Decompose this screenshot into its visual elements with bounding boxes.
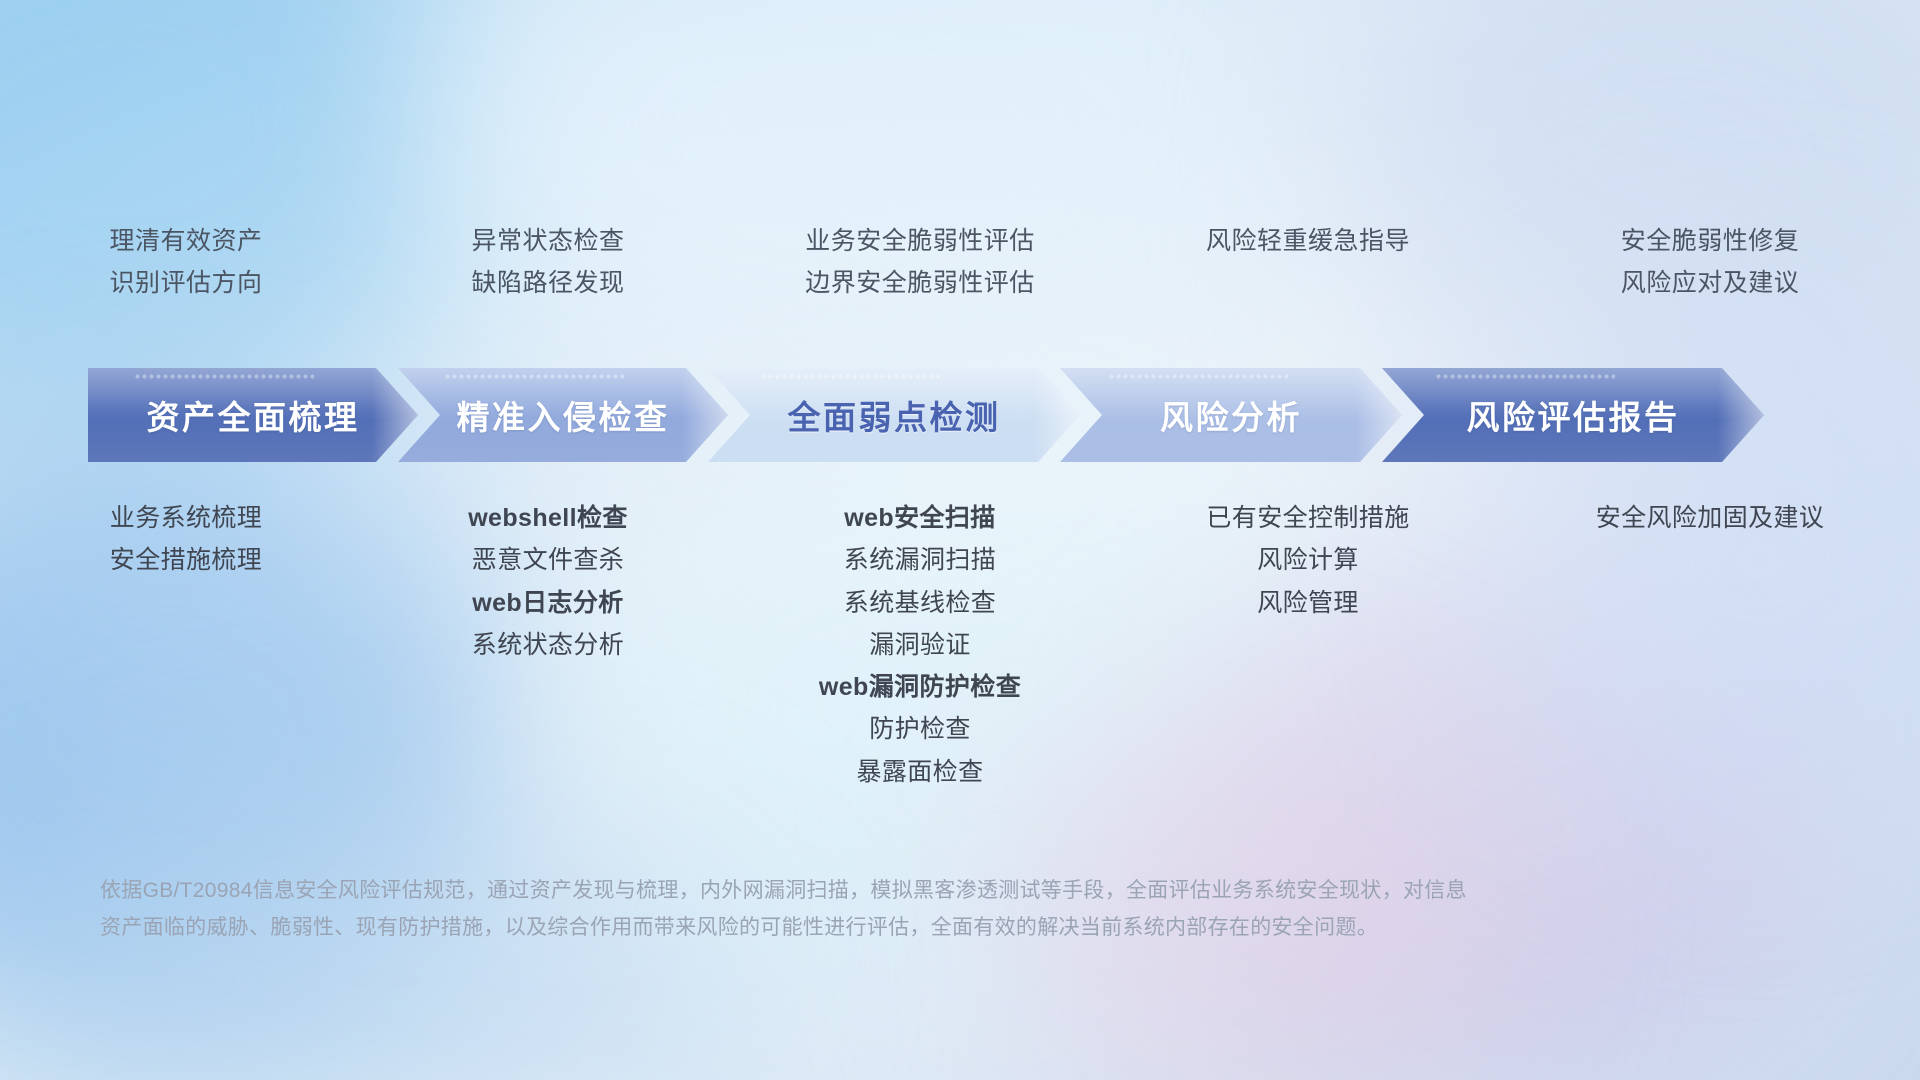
stage-title: 全面弱点检测 — [788, 391, 1001, 439]
stage-bottom-lists: 业务系统梳理安全措施梳理webshell检查恶意文件查杀web日志分析系统状态分… — [0, 505, 1920, 785]
footer-description: 依据GB/T20984信息安全风险评估规范，通过资产发现与梳理，内外网漏洞扫描，… — [100, 872, 1700, 947]
top-caption: 边界安全脆弱性评估 — [805, 270, 1035, 296]
process-stage-risk-analysis[interactable]: 风险分析 — [1060, 368, 1402, 462]
top-captions-weakness-detection: 业务安全脆弱性评估边界安全脆弱性评估 — [724, 228, 1116, 297]
list-item: 漏洞验证 — [869, 632, 971, 658]
process-arrow-banner: 资产全面梳理精准入侵检查全面弱点检测风险分析风险评估报告 — [88, 368, 1844, 462]
chevron-arrow-edge-icon — [1718, 368, 1764, 462]
list-item: 暴露面检查 — [856, 759, 983, 785]
process-stage-asset-inventory[interactable]: 资产全面梳理 — [88, 368, 418, 462]
top-captions-intrusion-check: 异常状态检查缺陷路径发现 — [372, 228, 724, 297]
bottom-list-weakness-detection: web安全扫描系统漏洞扫描系统基线检查漏洞验证web漏洞防护检查防护检查暴露面检… — [724, 505, 1116, 785]
bottom-list-risk-analysis: 已有安全控制措施风险计算风险管理 — [1116, 505, 1500, 616]
top-caption: 异常状态检查 — [471, 228, 624, 254]
list-item: web漏洞防护检查 — [819, 674, 1021, 700]
list-item: 系统漏洞扫描 — [844, 547, 996, 573]
chevron-dot-texture — [444, 373, 624, 379]
top-caption: 风险轻重缓急指导 — [1206, 228, 1410, 254]
top-caption: 风险应对及建议 — [1621, 270, 1800, 296]
list-item: webshell检查 — [468, 505, 628, 531]
top-caption: 识别评估方向 — [109, 270, 262, 296]
top-caption: 理清有效资产 — [109, 228, 262, 254]
list-item: 恶意文件查杀 — [472, 547, 624, 573]
top-caption: 安全脆弱性修复 — [1621, 228, 1800, 254]
list-item: 安全风险加固及建议 — [1596, 505, 1825, 531]
list-item: 风险计算 — [1257, 547, 1359, 573]
stage-title: 风险分析 — [1160, 391, 1302, 439]
bottom-list-risk-report: 安全风险加固及建议 — [1500, 505, 1920, 531]
top-captions-risk-analysis: 风险轻重缓急指导 — [1116, 228, 1500, 297]
stage-top-captions: 理清有效资产识别评估方向异常状态检查缺陷路径发现业务安全脆弱性评估边界安全脆弱性… — [0, 228, 1920, 297]
list-item: 系统状态分析 — [472, 632, 624, 658]
list-item: web日志分析 — [472, 590, 623, 616]
top-captions-asset-inventory: 理清有效资产识别评估方向 — [0, 228, 372, 297]
list-item: 防护检查 — [869, 716, 971, 742]
bottom-list-asset-inventory: 业务系统梳理安全措施梳理 — [0, 505, 372, 574]
slide-canvas: 理清有效资产识别评估方向异常状态检查缺陷路径发现业务安全脆弱性评估边界安全脆弱性… — [0, 0, 1920, 1080]
stage-title: 精准入侵检查 — [457, 391, 670, 439]
chevron-dot-texture — [1435, 373, 1615, 379]
chevron-dot-texture — [1108, 373, 1288, 379]
top-captions-risk-report: 安全脆弱性修复风险应对及建议 — [1500, 228, 1920, 297]
list-item: 已有安全控制措施 — [1206, 505, 1409, 531]
list-item: 业务系统梳理 — [110, 505, 262, 531]
top-caption: 业务安全脆弱性评估 — [805, 228, 1035, 254]
list-item: web安全扫描 — [844, 505, 995, 531]
chevron-dot-texture — [760, 373, 940, 379]
stage-title: 风险评估报告 — [1467, 391, 1680, 439]
list-item: 系统基线检查 — [844, 590, 996, 616]
list-item: 安全措施梳理 — [110, 547, 262, 573]
process-stage-intrusion-check[interactable]: 精准入侵检查 — [398, 368, 728, 462]
stage-title: 资产全面梳理 — [147, 391, 360, 439]
footer-line-1: 依据GB/T20984信息安全风险评估规范，通过资产发现与梳理，内外网漏洞扫描，… — [100, 872, 1700, 909]
process-stage-risk-report[interactable]: 风险评估报告 — [1382, 368, 1764, 462]
list-item: 风险管理 — [1257, 590, 1359, 616]
process-stage-weakness-detection[interactable]: 全面弱点检测 — [708, 368, 1080, 462]
footer-line-2: 资产面临的威胁、脆弱性、现有防护措施，以及综合作用而带来风险的可能性进行评估，全… — [100, 909, 1700, 946]
bottom-list-intrusion-check: webshell检查恶意文件查杀web日志分析系统状态分析 — [372, 505, 724, 658]
chevron-dot-texture — [134, 373, 314, 379]
top-caption: 缺陷路径发现 — [471, 270, 624, 296]
